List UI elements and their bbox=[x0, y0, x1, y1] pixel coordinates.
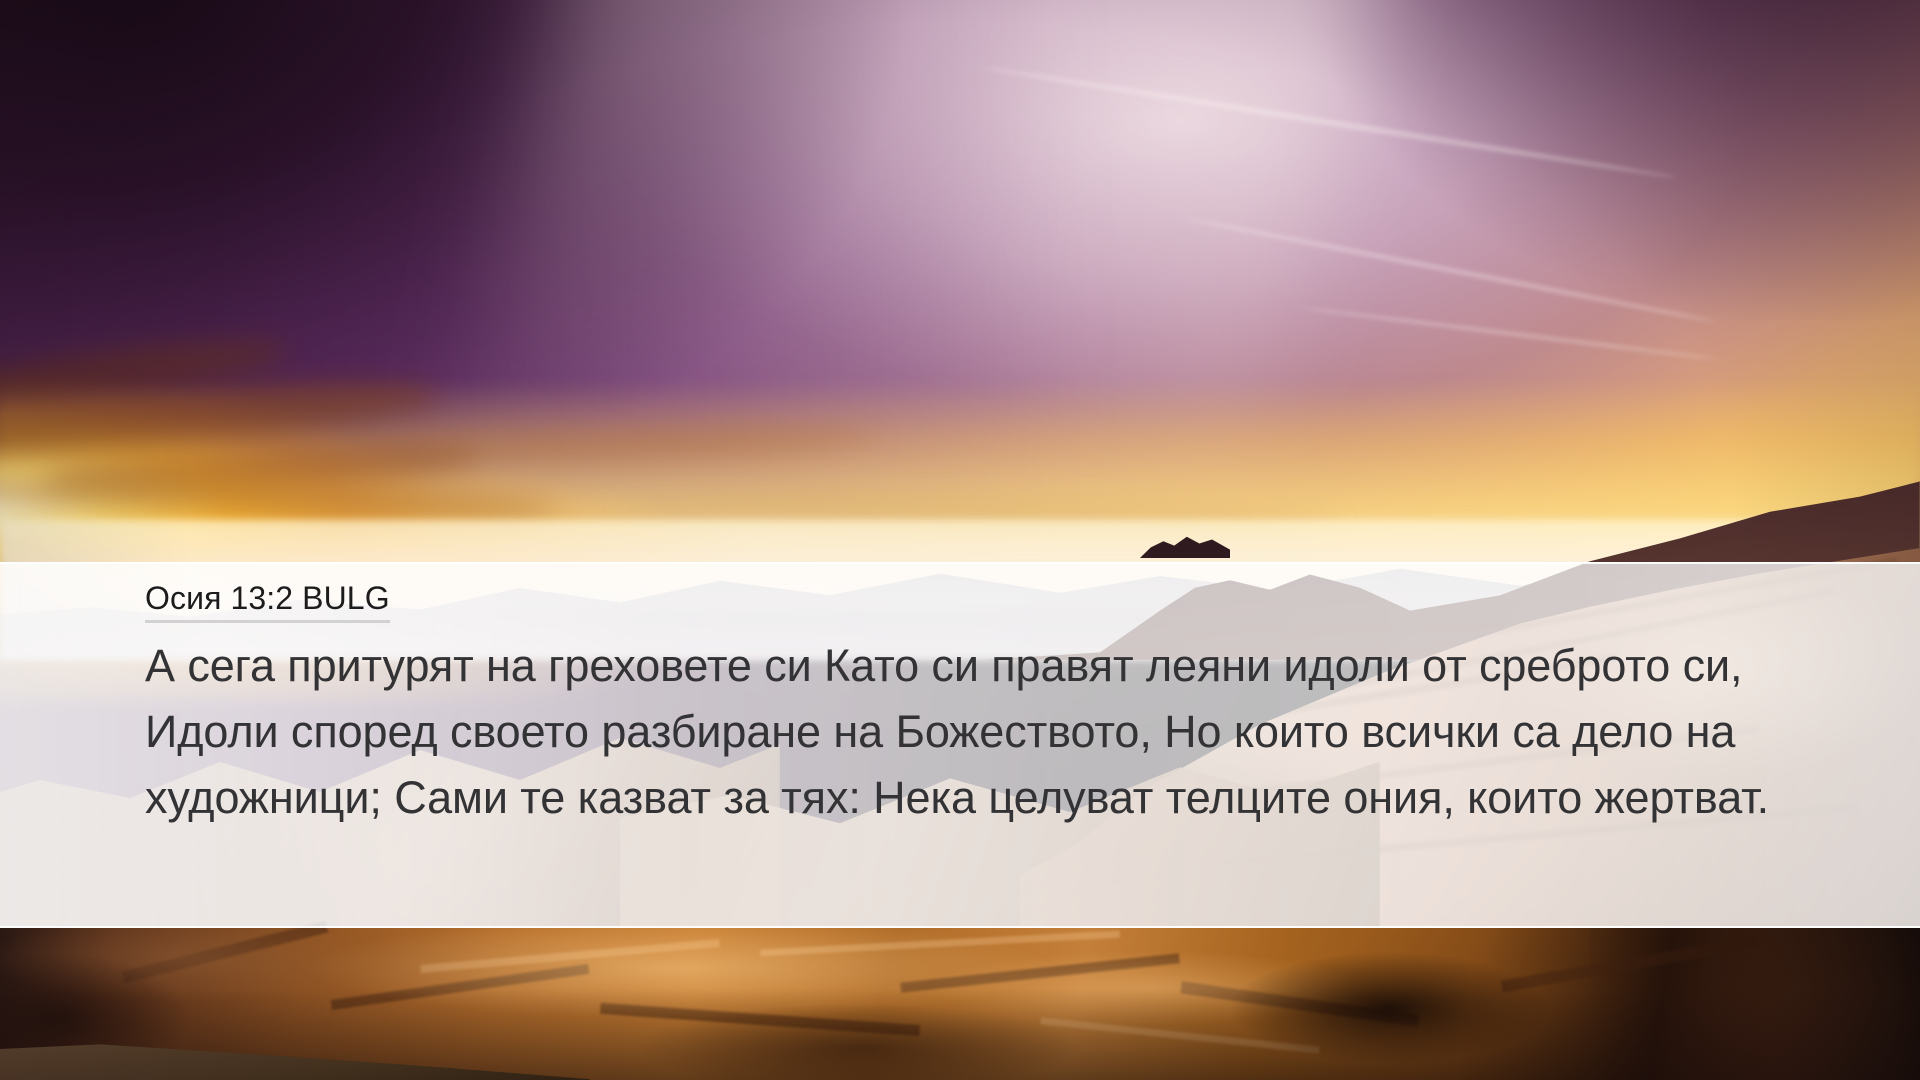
verse-text: А сега притурят на греховете си Като си … bbox=[145, 633, 1800, 831]
reference-underline-rule bbox=[145, 620, 390, 623]
verse-line: целуват телците ония, които жертват. bbox=[988, 772, 1769, 823]
verse-line: А сега притурят на греховете си Като си … bbox=[145, 640, 1467, 691]
scripture-image-card: Осия 13:2 BULG А сега притурят на грехов… bbox=[0, 0, 1920, 1080]
foreground-dark-right bbox=[1590, 928, 1920, 1080]
sky-dark-corner-right bbox=[1280, 0, 1920, 320]
verse-overlay-panel: Осия 13:2 BULG А сега притурят на грехов… bbox=[0, 562, 1920, 928]
scripture-reference-label: Осия 13:2 BULG bbox=[145, 580, 390, 617]
verse-content: Осия 13:2 BULG А сега притурят на грехов… bbox=[145, 580, 1800, 831]
scripture-reference: Осия 13:2 BULG bbox=[145, 580, 390, 623]
